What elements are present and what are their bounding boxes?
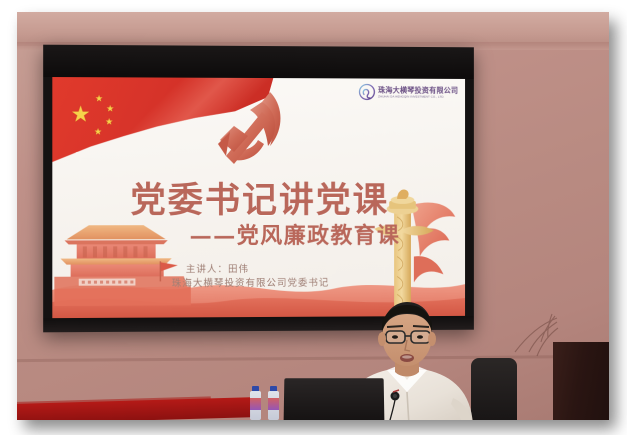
dark-cabinet <box>553 342 609 420</box>
presentation-slide: ★ ★ ★ ★ ★ <box>52 77 465 318</box>
laptop-lid <box>284 378 385 420</box>
flag-star-small-3: ★ <box>105 118 113 127</box>
bottle-label-1 <box>250 398 261 410</box>
flag-star-large: ★ <box>71 103 91 125</box>
hammer-and-sickle-icon <box>204 86 296 174</box>
plant-leaves-icon <box>489 312 559 362</box>
flag-star-small-4: ★ <box>94 128 102 137</box>
wall-upper-band <box>17 12 609 46</box>
presenter-name-line: 主讲人：田伟 <box>172 263 330 278</box>
slide-presenter-block: 主讲人：田伟 珠海大横琴投资有限公司党委书记 <box>172 263 330 292</box>
projection-screen: ★ ★ ★ ★ ★ <box>43 45 474 333</box>
company-logo: 珠海大横琴投资有限公司 ZHUHAI DA HENGQIN INVESTMENT… <box>358 83 458 100</box>
photograph: ★ ★ ★ ★ ★ <box>17 12 609 420</box>
water-bottle-1 <box>250 386 261 420</box>
flag-star-small-1: ★ <box>95 94 103 103</box>
screen-top-rail <box>43 45 474 79</box>
presenter-title-line: 珠海大横琴投资有限公司党委书记 <box>172 277 330 292</box>
bottle-label-2 <box>268 398 279 410</box>
flag-star-small-2: ★ <box>106 104 114 113</box>
slide-title: 党委书记讲党课 <box>52 172 465 223</box>
water-bottle-2 <box>268 386 279 420</box>
company-logo-mark-icon <box>358 83 375 100</box>
slide-subtitle: ——党风廉政教育课 <box>52 218 465 251</box>
photo-frame: ★ ★ ★ ★ ★ <box>0 0 627 435</box>
desk-items <box>232 368 452 420</box>
company-logo-en: ZHUHAI DA HENGQIN INVESTMENT CO., LTD. <box>378 94 458 98</box>
